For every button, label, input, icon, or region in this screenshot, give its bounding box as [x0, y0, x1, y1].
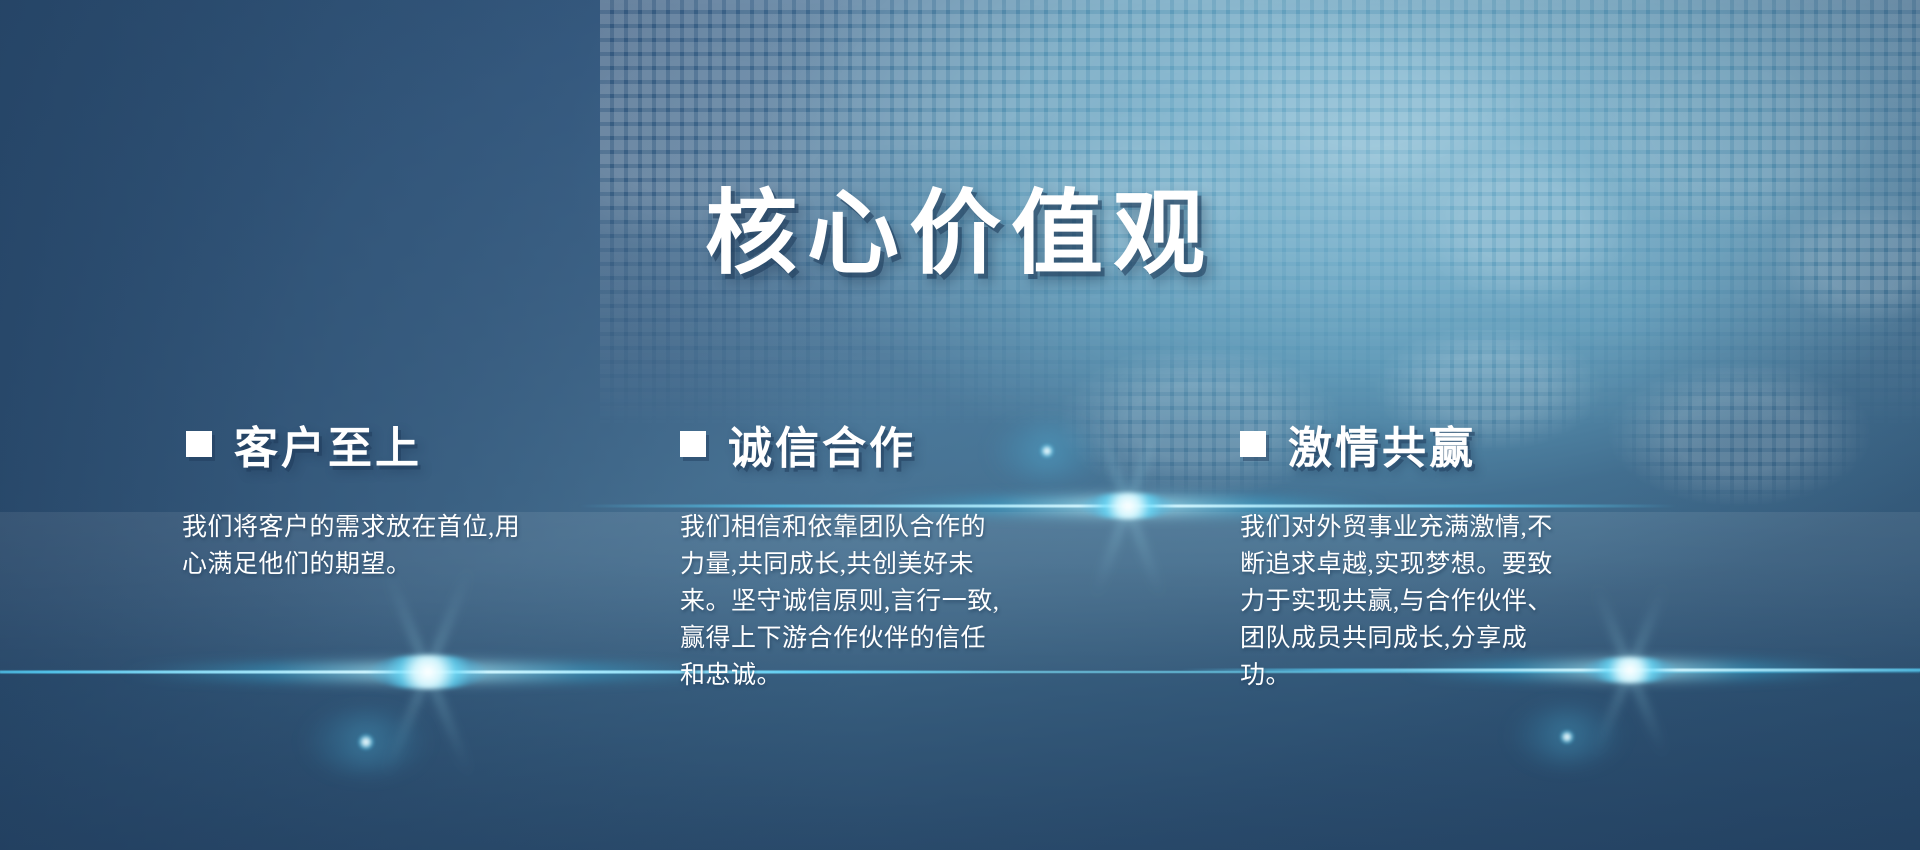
- values-columns: 客户至上 我们将客户的需求放在首位,用心满足他们的期望。 诚信合作 我们相信和依…: [0, 415, 1920, 694]
- banner-content: 核心价值观 客户至上 我们将客户的需求放在首位,用心满足他们的期望。 诚信合作 …: [0, 0, 1920, 850]
- square-bullet-icon: [680, 431, 706, 457]
- value-column-customer-first: 客户至上 我们将客户的需求放在首位,用心满足他们的期望。: [0, 415, 540, 694]
- value-title: 诚信合作: [728, 412, 916, 476]
- page-title: 核心价值观: [0, 186, 1920, 283]
- value-body-text: 我们对外贸事业充满激情,不断追求卓越,实现梦想。要致力于实现共赢,与合作伙伴、团…: [1240, 509, 1570, 694]
- value-column-integrity-cooperation: 诚信合作 我们相信和依靠团队合作的力量,共同成长,共创美好未来。坚守诚信原则,言…: [540, 415, 1060, 694]
- value-body-text: 我们将客户的需求放在首位,用心满足他们的期望。: [182, 509, 528, 583]
- value-heading: 诚信合作: [680, 415, 1060, 473]
- square-bullet-icon: [186, 431, 212, 457]
- value-column-passion-winwin: 激情共赢 我们对外贸事业充满激情,不断追求卓越,实现梦想。要致力于实现共赢,与合…: [1060, 415, 1920, 694]
- core-values-banner: 核心价值观 客户至上 我们将客户的需求放在首位,用心满足他们的期望。 诚信合作 …: [0, 0, 1920, 850]
- square-bullet-icon: [1240, 431, 1266, 457]
- value-body-text: 我们相信和依靠团队合作的力量,共同成长,共创美好未来。坚守诚信原则,言行一致,赢…: [680, 509, 1010, 694]
- value-heading: 客户至上: [186, 415, 540, 473]
- value-heading: 激情共赢: [1240, 415, 1920, 473]
- value-title: 激情共赢: [1288, 412, 1476, 476]
- value-title: 客户至上: [234, 412, 422, 476]
